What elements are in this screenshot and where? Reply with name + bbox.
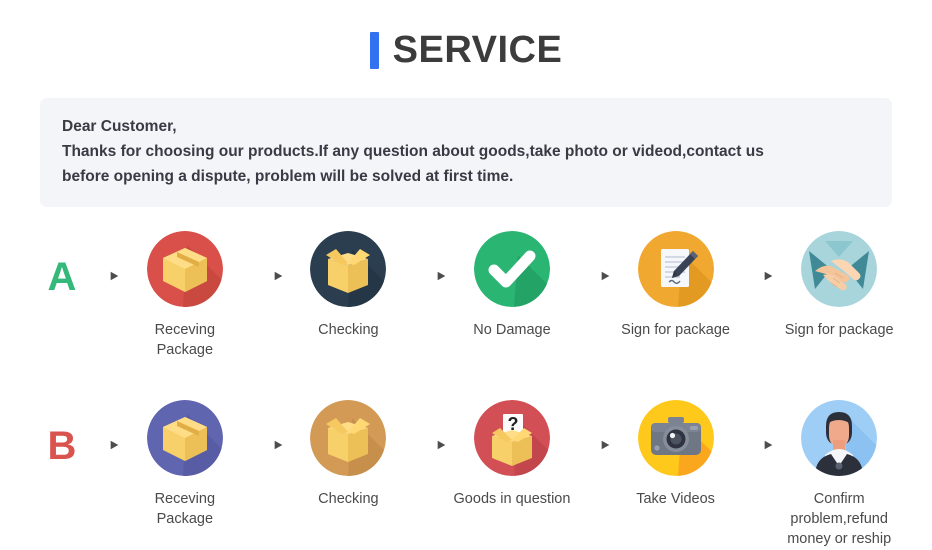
flow-row-a: A Receving Package <box>0 231 932 360</box>
arrow-right-icon <box>80 438 126 452</box>
flow-row-b: B Receving Package <box>0 400 932 549</box>
step-label: Sign for package <box>621 321 730 341</box>
step-label: Receving Package <box>126 321 244 360</box>
arrow-right-icon <box>244 269 290 283</box>
step-a-3[interactable]: No Damage <box>453 231 571 341</box>
page-title-text: SERVICE <box>393 31 563 69</box>
arrow-right-icon <box>407 438 453 452</box>
step-b-1[interactable]: Receving Package <box>126 400 244 529</box>
open-box-icon <box>310 400 386 476</box>
document-pen-icon <box>638 231 714 307</box>
person-icon <box>801 400 877 476</box>
step-label: Checking <box>318 321 378 341</box>
step-b-2[interactable]: Checking <box>290 400 408 510</box>
step-label: Confirm problem,refund money or reship <box>780 490 898 549</box>
step-b-4[interactable]: Take Videos <box>617 400 735 510</box>
step-label: Sign for package <box>785 321 894 341</box>
question-box-icon: ? <box>474 400 550 476</box>
flow-label-b: B <box>44 426 80 466</box>
step-a-2[interactable]: Checking <box>290 231 408 341</box>
arrow-right-icon <box>80 269 126 283</box>
arrow-right-icon <box>734 269 780 283</box>
arrow-right-icon <box>407 269 453 283</box>
step-a-5[interactable]: Sign for package <box>780 231 898 341</box>
flow-label-a: A <box>44 257 80 297</box>
step-label: No Damage <box>473 321 550 341</box>
step-b-3[interactable]: ? Goods in question <box>453 400 571 510</box>
title-accent-bar <box>370 32 379 69</box>
arrow-right-icon <box>734 438 780 452</box>
arrow-right-icon <box>571 438 617 452</box>
step-a-1[interactable]: Receving Package <box>126 231 244 360</box>
handshake-icon <box>801 231 877 307</box>
step-label: Receving Package <box>126 490 244 529</box>
closed-box-icon <box>147 231 223 307</box>
open-box-icon <box>310 231 386 307</box>
step-label: Take Videos <box>636 490 715 510</box>
step-label: Goods in question <box>454 490 571 510</box>
camera-icon <box>638 400 714 476</box>
customer-notice-panel: Dear Customer, Thanks for choosing our p… <box>40 98 892 207</box>
step-a-4[interactable]: Sign for package <box>617 231 735 341</box>
step-b-5[interactable]: Confirm problem,refund money or reship <box>780 400 898 549</box>
arrow-right-icon <box>244 438 290 452</box>
check-mark-icon <box>474 231 550 307</box>
notice-line-3: before opening a dispute, problem will b… <box>62 164 870 189</box>
arrow-right-icon <box>571 269 617 283</box>
page-title: SERVICE <box>0 0 932 78</box>
step-label: Checking <box>318 490 378 510</box>
notice-line-2: Thanks for choosing our products.If any … <box>62 139 870 164</box>
closed-box-icon <box>147 400 223 476</box>
notice-line-1: Dear Customer, <box>62 114 870 139</box>
